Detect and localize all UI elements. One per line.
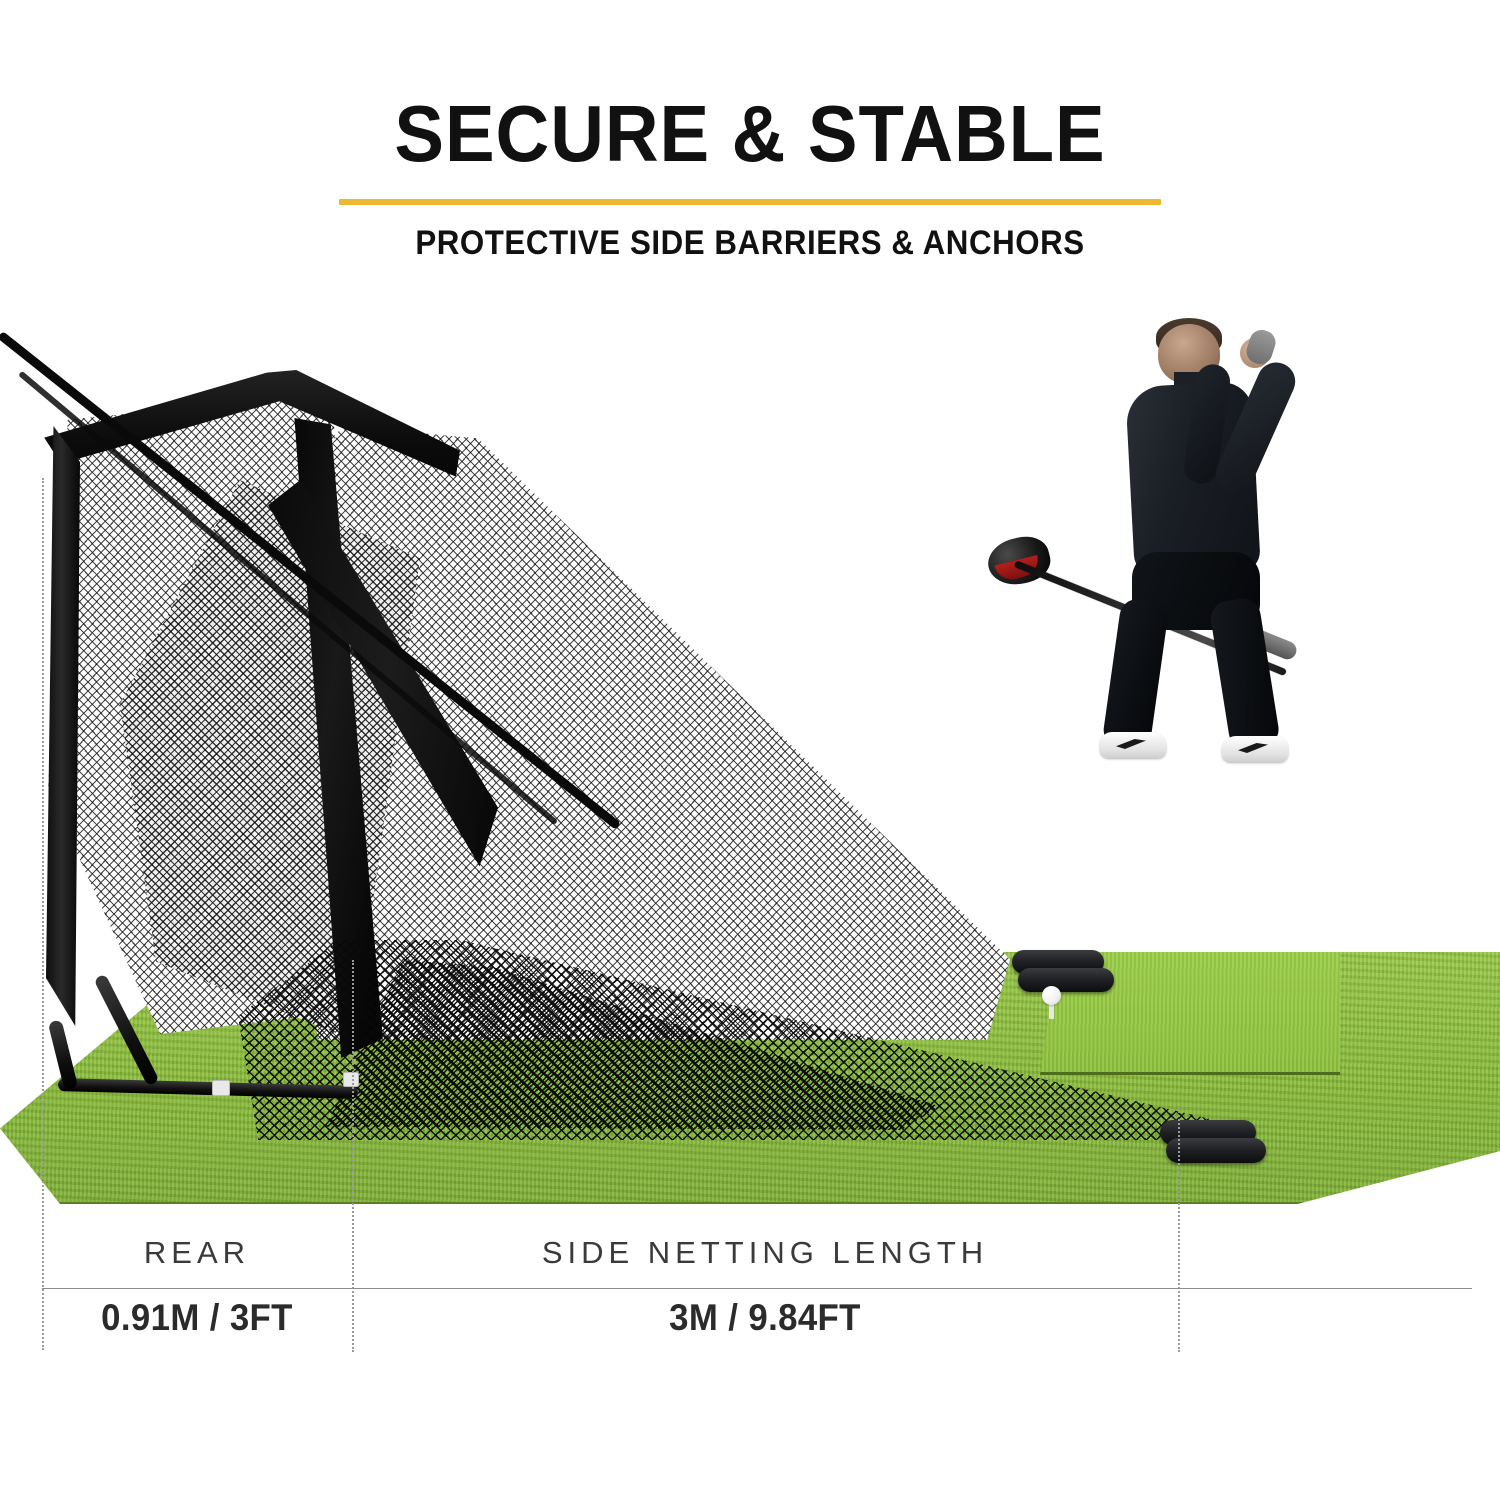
measurement-value-rear: 0.91M / 3FT xyxy=(51,1297,342,1339)
guide-line-middle xyxy=(352,960,354,1352)
measurement-label-side-netting: SIDE NETTING LENGTH xyxy=(352,1235,1178,1271)
swoosh-icon xyxy=(1116,739,1146,749)
sandbag-anchor-front-bottom xyxy=(1166,1138,1266,1163)
golfer-figure xyxy=(1070,300,1300,740)
page-subtitle: PROTECTIVE SIDE BARRIERS & ANCHORS xyxy=(60,224,1440,263)
page-title: SECURE & STABLE xyxy=(53,96,1448,173)
golf-ball xyxy=(1042,986,1061,1005)
frame-connector-clip xyxy=(212,1080,230,1096)
header-block: SECURE & STABLE PROTECTIVE SIDE BARRIERS… xyxy=(0,96,1500,263)
swoosh-icon xyxy=(1238,743,1268,753)
measurement-value-side-netting: 3M / 9.84FT xyxy=(377,1297,1153,1339)
golfer-right-shoe xyxy=(1222,736,1288,762)
frame-connector-clip-right xyxy=(343,1072,359,1087)
golfer-left-leg xyxy=(1101,597,1169,752)
sandbag-anchor-rear-bottom xyxy=(1018,968,1114,992)
guide-line-right xyxy=(1178,1108,1180,1352)
accent-divider xyxy=(339,199,1161,205)
frame-base-tube-left xyxy=(48,1019,79,1090)
product-infographic: SECURE & STABLE PROTECTIVE SIDE BARRIERS… xyxy=(0,0,1500,1500)
golfer-left-shoe xyxy=(1100,732,1166,758)
golfer-right-leg xyxy=(1208,596,1281,752)
measurement-label-rear: REAR xyxy=(42,1235,352,1271)
guide-line-left xyxy=(42,478,44,1350)
measurement-divider xyxy=(42,1288,1472,1289)
